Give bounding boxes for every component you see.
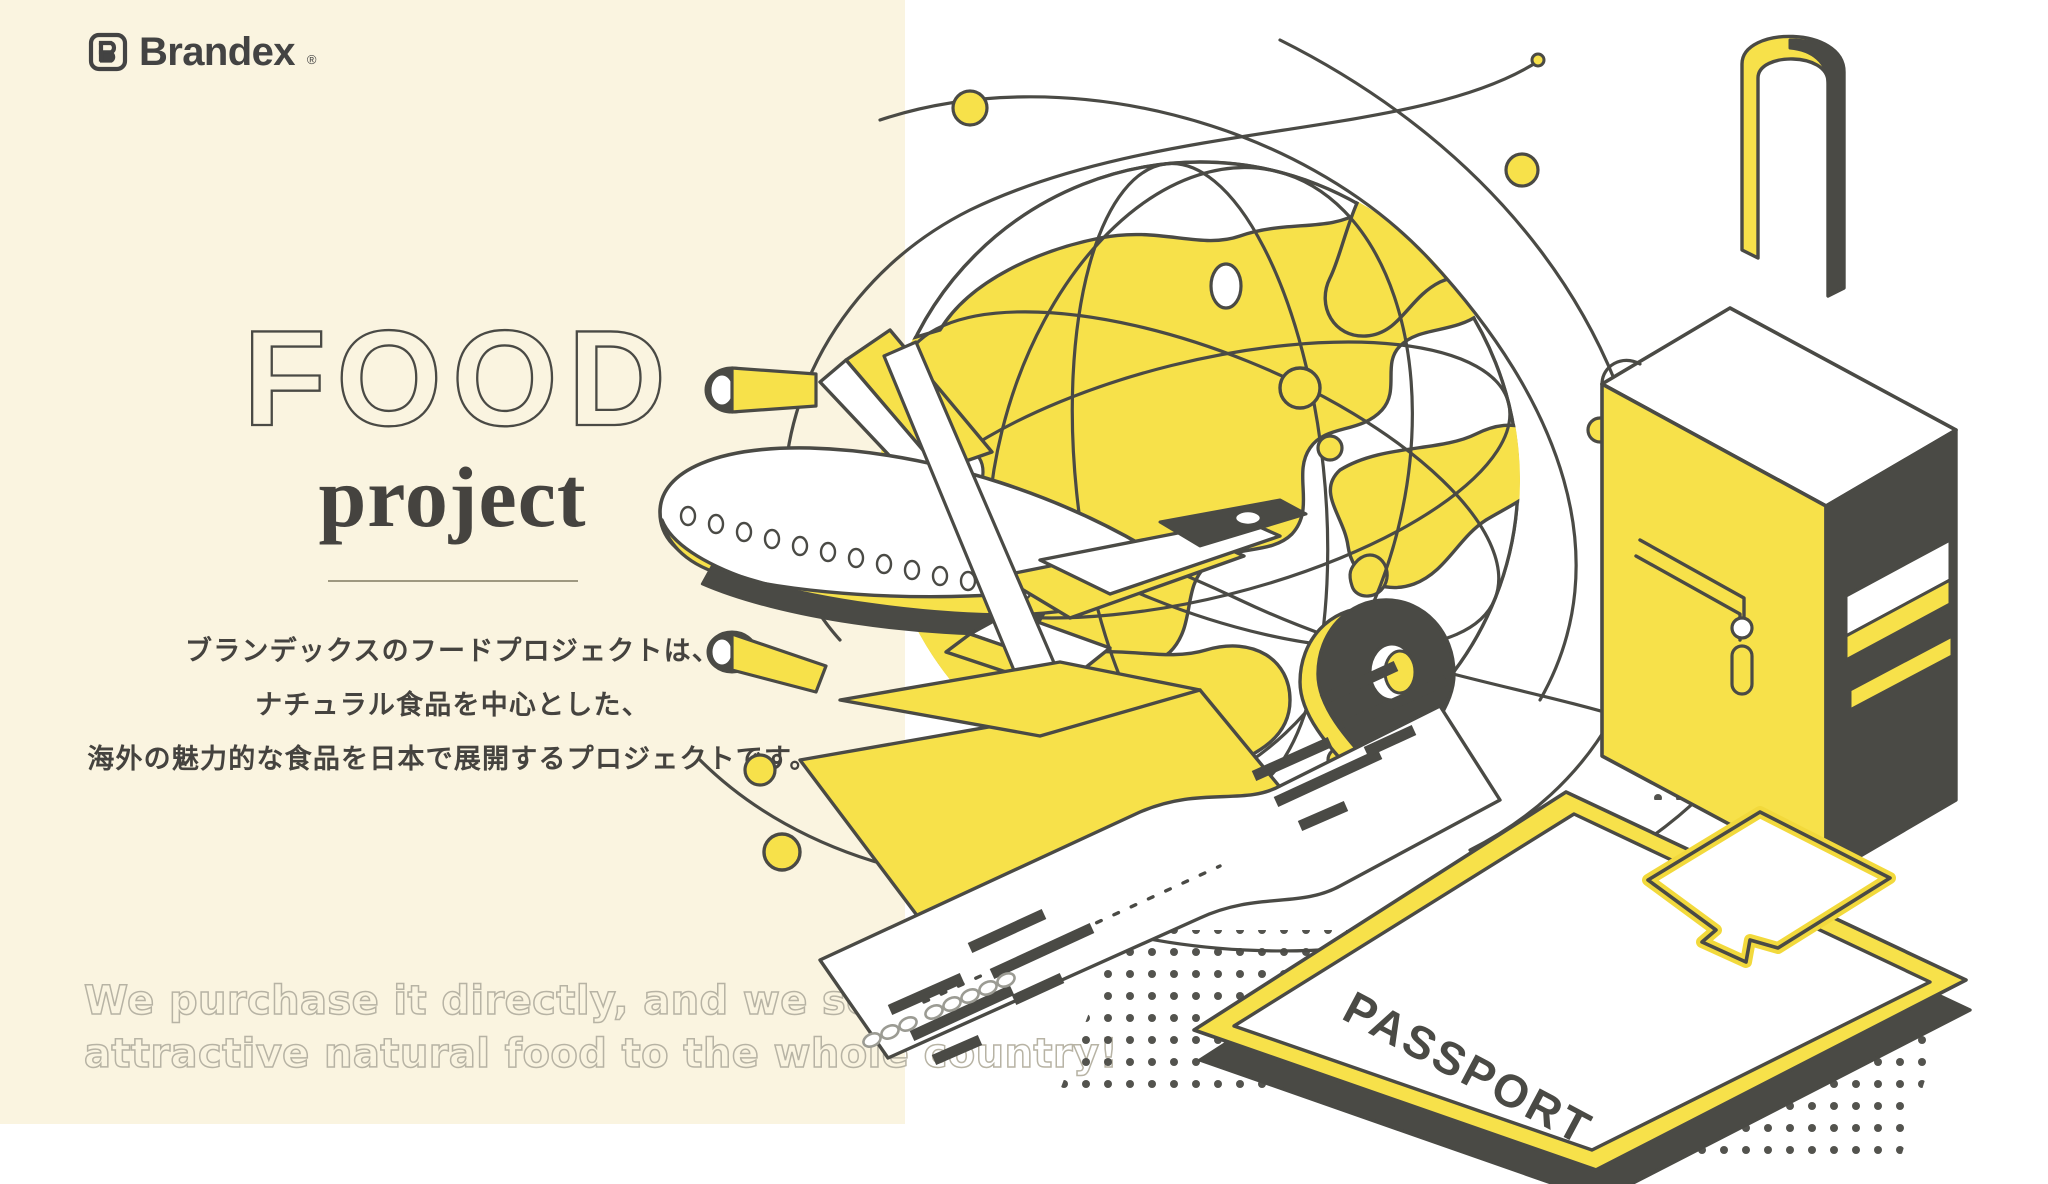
brand-name: Brandex: [139, 32, 295, 72]
registered-mark: ®: [307, 52, 317, 67]
global-food-travel-illustration: PASSPORT: [640, 0, 2048, 1184]
suitcase-icon: [1602, 36, 1956, 876]
title-divider: [328, 580, 578, 582]
poster-canvas: Brandex ® FOOD project ブランデックスのフードプロジェクト…: [0, 0, 2048, 1184]
brandex-b-mark-icon: [88, 32, 128, 72]
brand-logo[interactable]: Brandex ®: [88, 32, 316, 72]
